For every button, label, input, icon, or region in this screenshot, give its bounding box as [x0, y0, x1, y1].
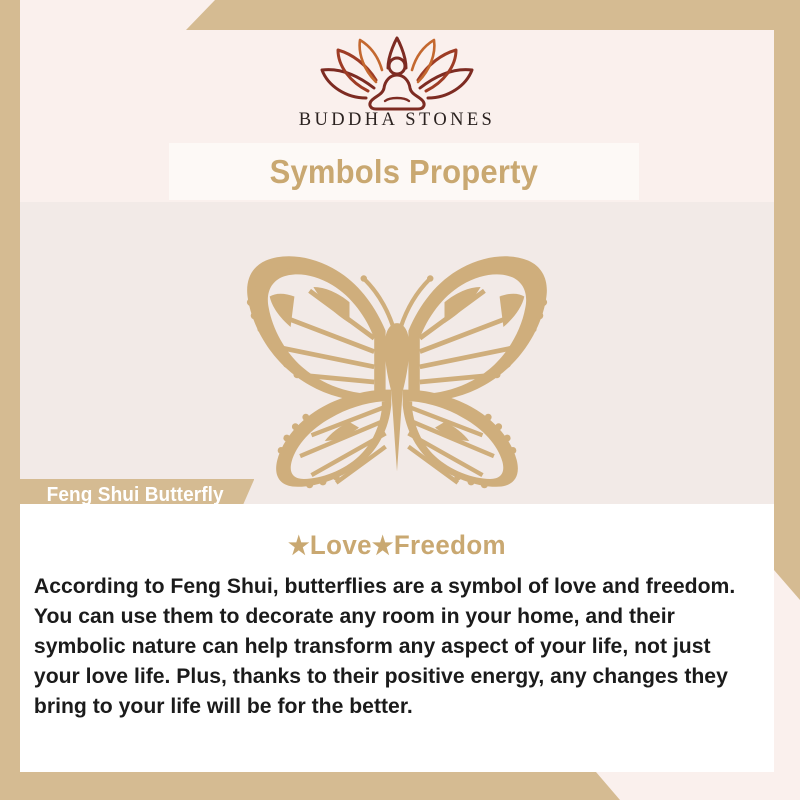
decor-right-bar [774, 0, 800, 600]
brand-name: BUDDHA STONES [299, 110, 496, 131]
tagline-word-freedom: Freedom [394, 530, 506, 560]
brand-logo: BUDDHA STONES [20, 30, 774, 140]
description-text: According to Feng Shui, butterflies are … [28, 571, 755, 721]
lotus-meditation-icon [312, 34, 482, 112]
butterfly-icon [207, 239, 587, 489]
artwork-panel [20, 202, 774, 515]
decor-left-bar [0, 0, 20, 800]
title-banner: Symbols Property [169, 143, 639, 200]
tagline: ★Love★Freedom [43, 530, 751, 561]
description-panel: ★Love★Freedom According to Feng Shui, bu… [20, 504, 774, 772]
star-icon-left: ★ [288, 532, 310, 560]
star-icon-middle: ★ [372, 532, 394, 560]
poster-card: BUDDHA STONES Symbols Property [20, 30, 774, 772]
page-title: Symbols Property [270, 153, 538, 191]
poster-root: BUDDHA STONES Symbols Property [0, 0, 800, 800]
decor-top-bar [0, 0, 800, 30]
decor-bottom-bar [0, 772, 800, 800]
tagline-word-love: Love [310, 530, 372, 560]
